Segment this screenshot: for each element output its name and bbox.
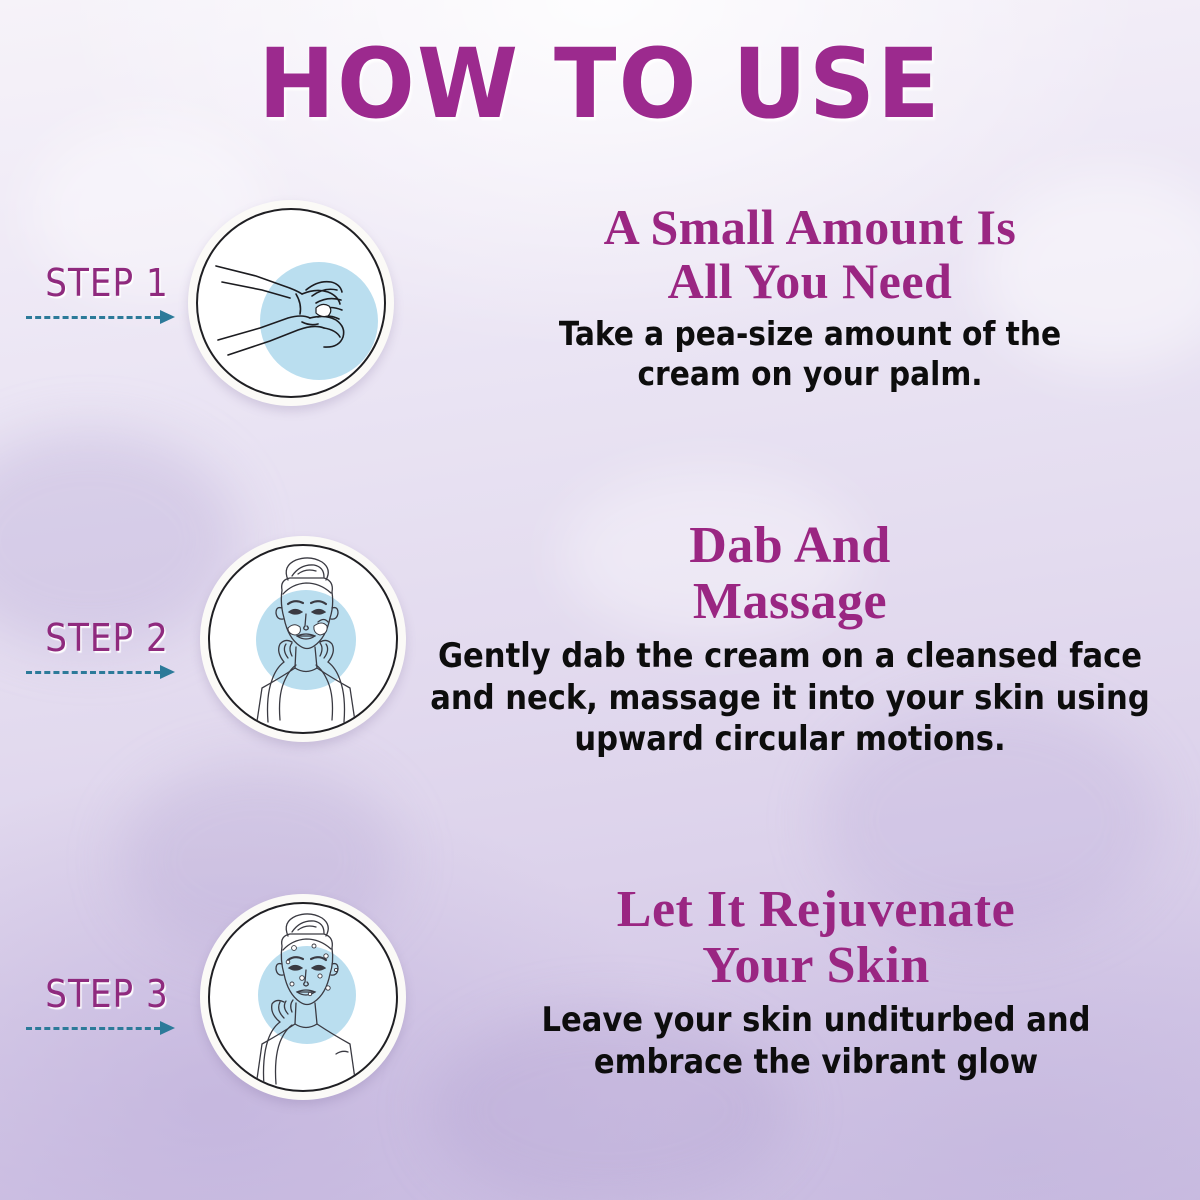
step-row-3: STEP 3	[0, 872, 1200, 1172]
step-1-body-line-1: Take a pea-size amount of the	[430, 314, 1190, 354]
step-1-label-group: STEP 1	[12, 261, 202, 324]
step-2-heading-line-2: Massage	[390, 574, 1190, 630]
dashed-arrow-right-icon	[12, 310, 202, 324]
step-1-heading: A Small Amount Is All You Need	[430, 200, 1190, 308]
step-2-body-line-1: Gently dab the cream on a cleansed face	[390, 636, 1190, 677]
step-3-label: STEP 3	[12, 972, 202, 1016]
how-to-use-poster: HOW TO USE STEP 1	[0, 0, 1200, 1200]
step-2-body: Gently dab the cream on a cleansed face …	[390, 636, 1190, 760]
step-row-1: STEP 1	[0, 186, 1200, 486]
step-2-label: STEP 2	[12, 616, 202, 660]
step-3-body-line-2: embrace the vibrant glow	[440, 1042, 1192, 1083]
step-3-heading-line-1: Let It Rejuvenate	[440, 882, 1192, 938]
step-3-text: Let It Rejuvenate Your Skin Leave your s…	[440, 882, 1192, 1083]
step-2-body-line-3: upward circular motions.	[390, 719, 1190, 760]
step-2-body-line-2: and neck, massage it into your skin usin…	[390, 678, 1190, 719]
page-title: HOW TO USE	[0, 36, 1200, 132]
step-2-heading: Dab And Massage	[390, 518, 1190, 630]
dashed-arrow-right-icon	[12, 1021, 202, 1035]
step-2-label-group: STEP 2	[12, 616, 202, 679]
step-1-label: STEP 1	[12, 261, 202, 305]
dashed-arrow-right-icon	[12, 665, 202, 679]
step-1-heading-line-2: All You Need	[430, 254, 1190, 308]
step-1-text: A Small Amount Is All You Need Take a pe…	[430, 200, 1190, 395]
step-1-heading-line-1: A Small Amount Is	[430, 200, 1190, 254]
step-1-body-line-2: cream on your palm.	[430, 354, 1190, 394]
step-3-heading: Let It Rejuvenate Your Skin	[440, 882, 1192, 994]
step-3-body-line-1: Leave your skin unditurbed and	[440, 1000, 1192, 1041]
step-1-illustration	[188, 200, 394, 406]
step-1-body: Take a pea-size amount of the cream on y…	[430, 314, 1190, 395]
step-3-illustration	[200, 894, 406, 1100]
step-3-body: Leave your skin unditurbed and embrace t…	[440, 1000, 1192, 1083]
step-row-2: STEP 2	[0, 508, 1200, 808]
step-2-heading-line-1: Dab And	[390, 518, 1190, 574]
step-3-label-group: STEP 3	[12, 972, 202, 1035]
step-2-illustration	[200, 536, 406, 742]
step-2-text: Dab And Massage Gently dab the cream on …	[390, 518, 1190, 761]
step-3-heading-line-2: Your Skin	[440, 938, 1192, 994]
